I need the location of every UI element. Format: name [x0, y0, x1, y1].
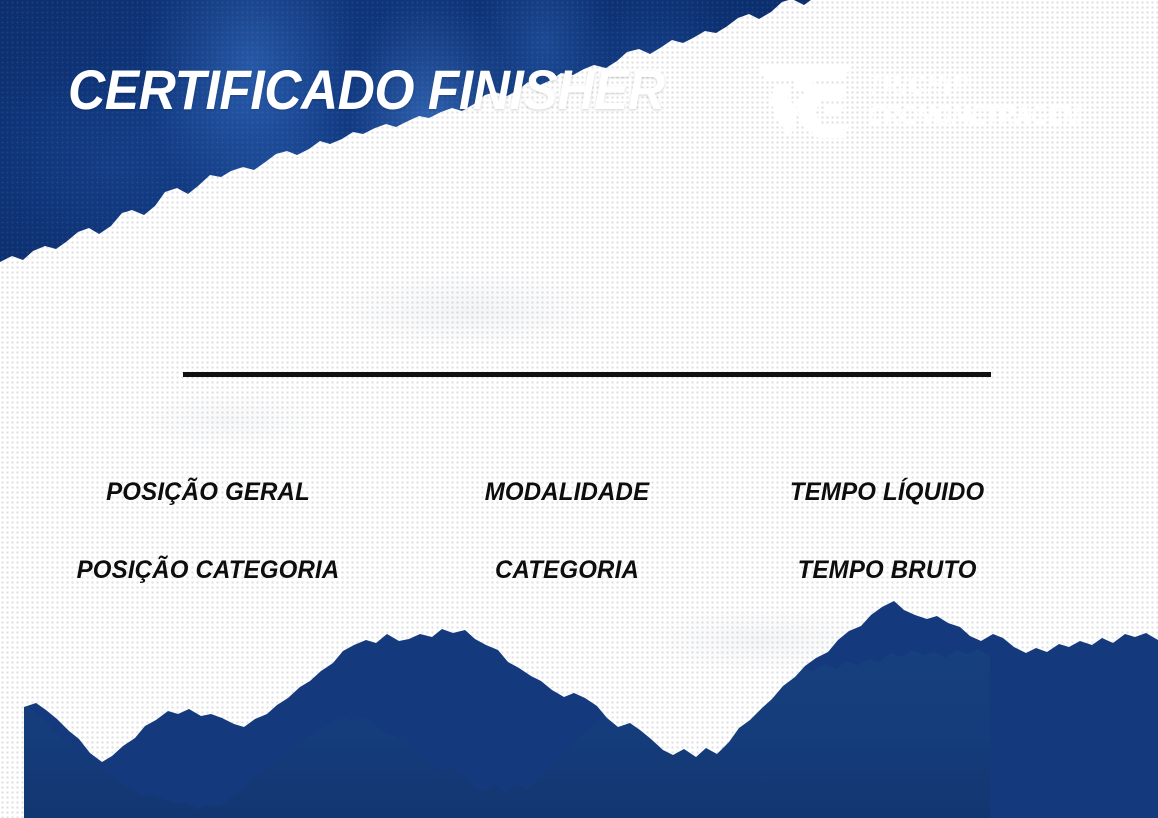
label-modalidade: MODALIDADE [422, 478, 712, 507]
page-title: CERTIFICADO FINISHER [68, 62, 665, 118]
participant-name-rule [183, 372, 991, 377]
tc-monogram-icon [752, 58, 856, 144]
label-posicao-categoria: POSIÇÃO CATEGORIA [8, 556, 407, 585]
brand-wordmark: TRICHIP CRONOMETRAGEM [868, 72, 1143, 130]
result-fields: POSIÇÃO GERAL MODALIDADE TEMPO LÍQUIDO P… [0, 478, 1158, 585]
result-row-1: POSIÇÃO GERAL MODALIDADE TEMPO LÍQUIDO [0, 478, 1158, 507]
label-tempo-liquido: TEMPO LÍQUIDO [727, 478, 1149, 507]
label-tempo-bruto: TEMPO BRUTO [727, 556, 1149, 585]
brand-name-line2: CRONOMETRAGEM [868, 103, 1082, 131]
certificate-canvas: CERTIFICADO FINISHER TRICHIP CRONOMETRAG… [0, 0, 1158, 818]
result-row-2: POSIÇÃO CATEGORIA CATEGORIA TEMPO BRUTO [0, 556, 1158, 585]
brand-logo: TRICHIP CRONOMETRAGEM [752, 58, 1143, 144]
label-categoria: CATEGORIA [422, 556, 712, 585]
brand-name-line1: TRICHIP [868, 72, 1082, 100]
label-posicao-geral: POSIÇÃO GERAL [8, 478, 407, 507]
